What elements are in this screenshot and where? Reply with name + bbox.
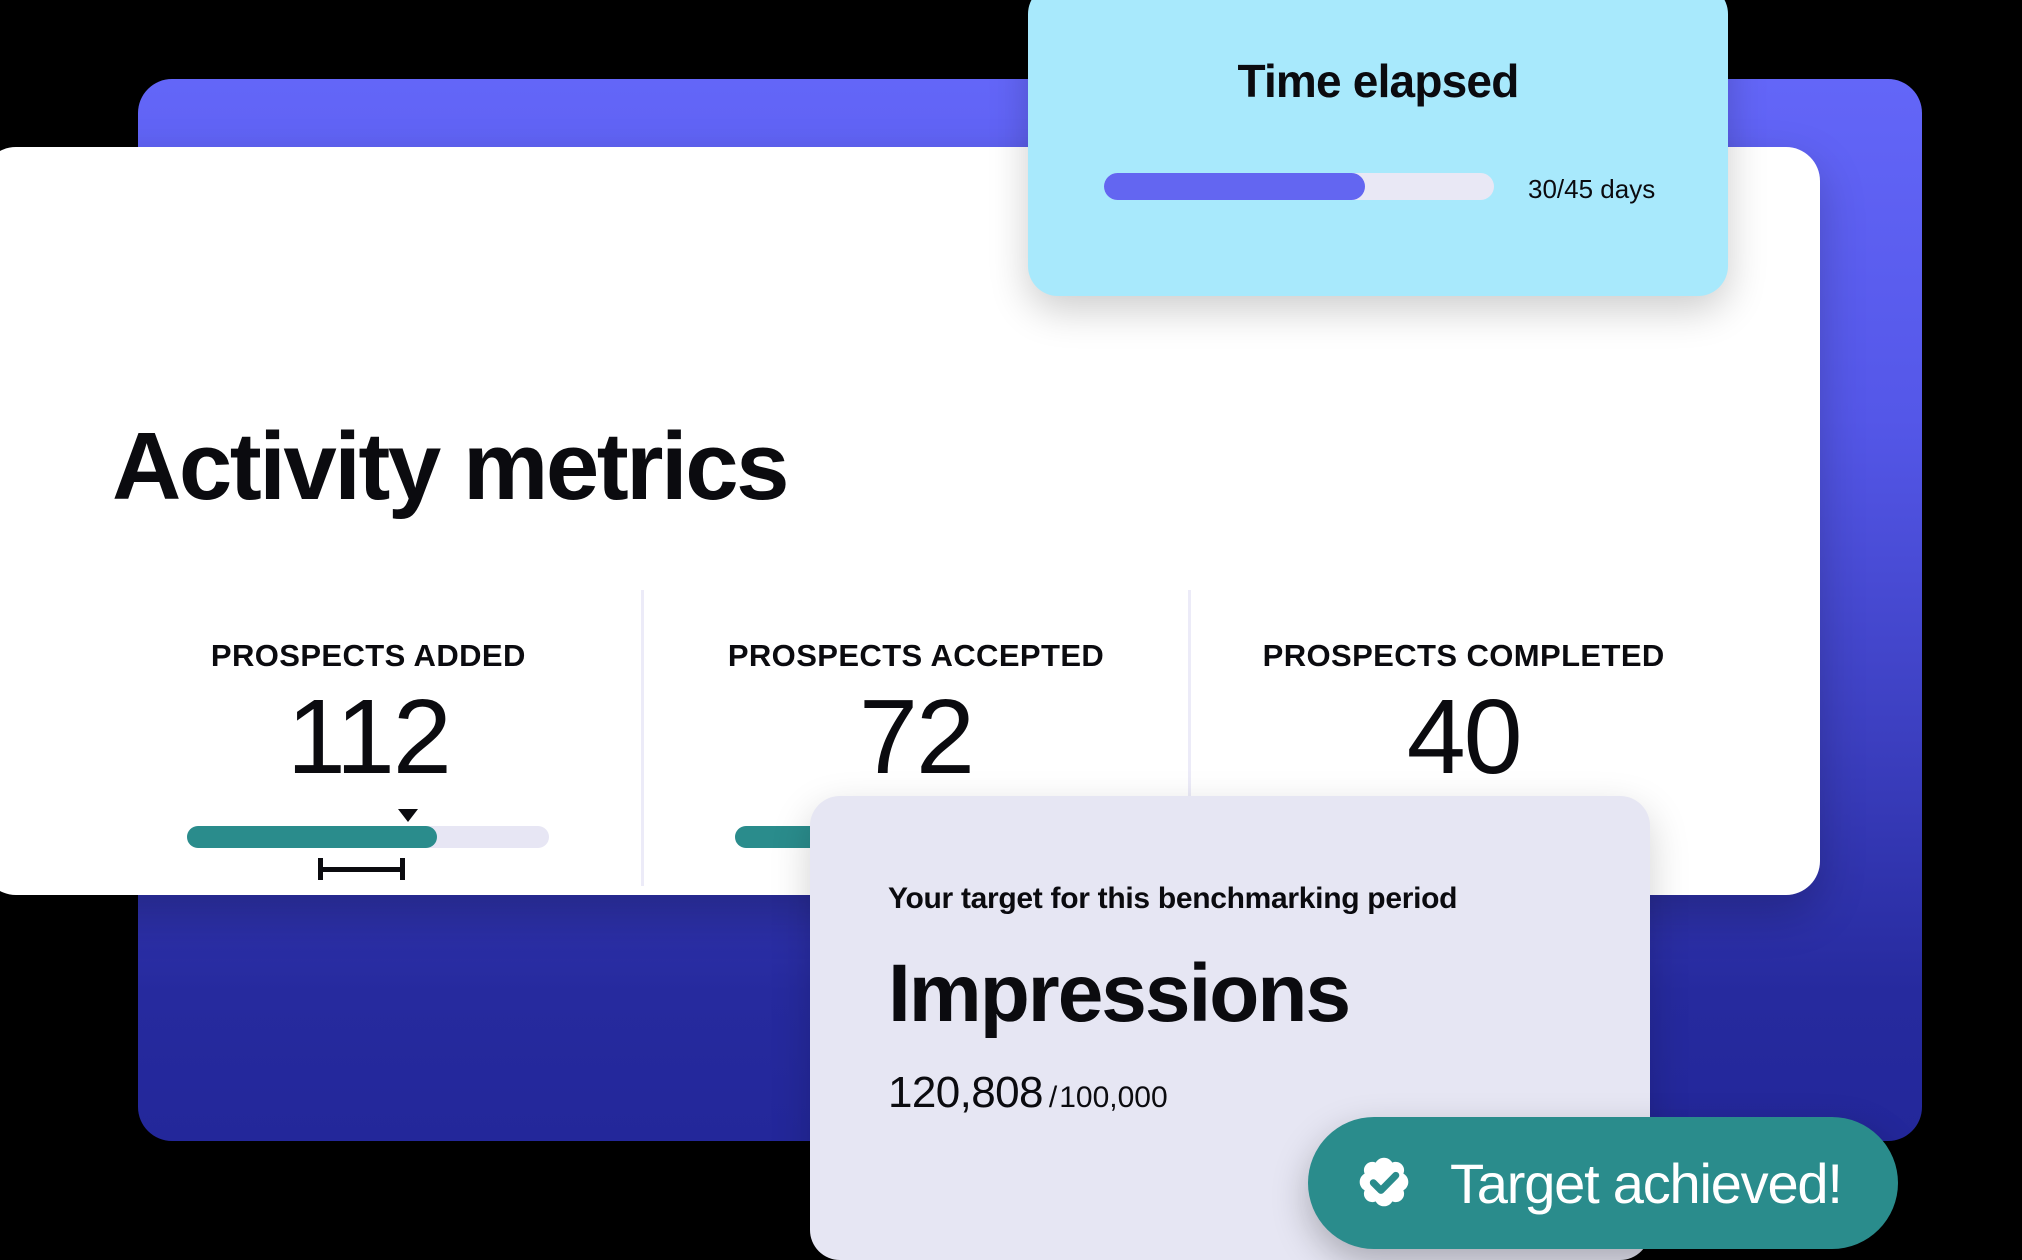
metric-value: 112	[287, 680, 450, 794]
target-achieved-label: Target achieved!	[1450, 1151, 1842, 1216]
target-headline: Impressions	[888, 948, 1349, 1040]
time-elapsed-card: Time elapsed 30/45 days	[1028, 0, 1728, 296]
time-elapsed-progress-label: 30/45 days	[1528, 174, 1655, 205]
target-progress-numbers: 120,808/100,000	[888, 1068, 1168, 1118]
metric-prospects-added: PROSPECTS ADDED 112	[96, 590, 641, 886]
benchmark-range-indicator	[318, 858, 405, 880]
target-separator: /	[1049, 1081, 1057, 1114]
page-title: Activity metrics	[112, 419, 787, 515]
time-elapsed-title: Time elapsed	[1028, 54, 1728, 108]
target-current-value: 120,808	[888, 1068, 1043, 1117]
metric-value: 72	[859, 680, 973, 794]
target-caption: Your target for this benchmarking period	[888, 882, 1457, 916]
time-elapsed-progress-track	[1104, 173, 1494, 200]
target-goal-value: 100,000	[1059, 1081, 1167, 1114]
target-achieved-badge: Target achieved!	[1308, 1117, 1898, 1249]
metric-label: PROSPECTS COMPLETED	[1263, 638, 1665, 674]
metric-value: 40	[1407, 680, 1521, 794]
verified-check-icon	[1348, 1147, 1420, 1219]
metric-gauge	[187, 804, 549, 874]
benchmark-marker-icon	[398, 809, 418, 822]
metric-label: PROSPECTS ADDED	[211, 638, 526, 674]
gauge-fill	[187, 826, 437, 848]
metric-label: PROSPECTS ACCEPTED	[728, 638, 1104, 674]
time-elapsed-progress-fill	[1104, 173, 1365, 200]
